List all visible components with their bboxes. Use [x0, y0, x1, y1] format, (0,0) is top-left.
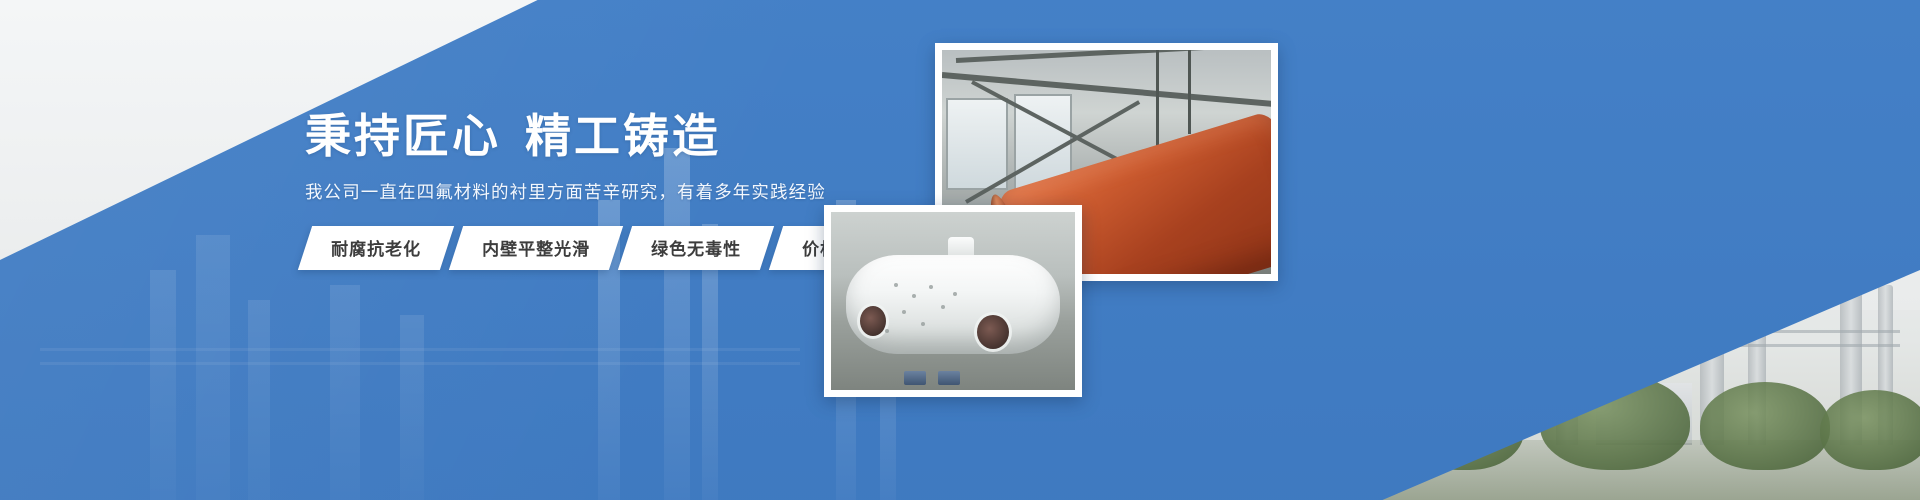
banner-subtitle: 我公司一直在四氟材料的衬里方面苦辛研究，有着多年实践经验: [305, 179, 865, 204]
feature-tag-corrosion-resistant[interactable]: 耐腐抗老化: [298, 226, 454, 270]
photo-inner: [831, 212, 1075, 390]
feature-tag-label: 绿色无毒性: [651, 235, 741, 260]
crane-cable: [1156, 50, 1159, 146]
tank-nozzle: [948, 237, 974, 257]
promo-banner: 秉持匠心精工铸造 我公司一直在四氟材料的衬里方面苦辛研究，有着多年实践经验 耐腐…: [0, 0, 1920, 500]
page-title: 秉持匠心精工铸造: [305, 110, 865, 163]
tree: [1820, 390, 1920, 470]
tank-stud: [929, 285, 933, 289]
feature-tag-non-toxic[interactable]: 绿色无毒性: [618, 226, 774, 270]
tank-support-foot: [938, 371, 960, 385]
workshop-window: [946, 98, 1008, 190]
feature-tag-smooth-inner-wall[interactable]: 内壁平整光滑: [449, 226, 623, 270]
white-tank-body: [846, 255, 1061, 355]
tree: [1700, 382, 1830, 470]
feature-tag-list: 耐腐抗老化 内壁平整光滑 绿色无毒性 价格低廉: [305, 226, 865, 270]
tank-stud: [941, 305, 945, 309]
feature-tag-label: 耐腐抗老化: [331, 235, 421, 260]
crane-cable: [1188, 50, 1191, 134]
feature-tag-label: 内壁平整光滑: [482, 235, 590, 260]
title-part-1: 秉持匠心: [305, 110, 501, 162]
tank-support-foot: [904, 371, 926, 385]
title-part-2: 精工铸造: [525, 110, 721, 162]
tank-stud: [902, 310, 906, 314]
tank-stud: [912, 294, 916, 298]
banner-copy: 秉持匠心精工铸造 我公司一直在四氟材料的衬里方面苦辛研究，有着多年实践经验 耐腐…: [305, 110, 865, 270]
product-photo-white-tank[interactable]: [824, 205, 1082, 397]
